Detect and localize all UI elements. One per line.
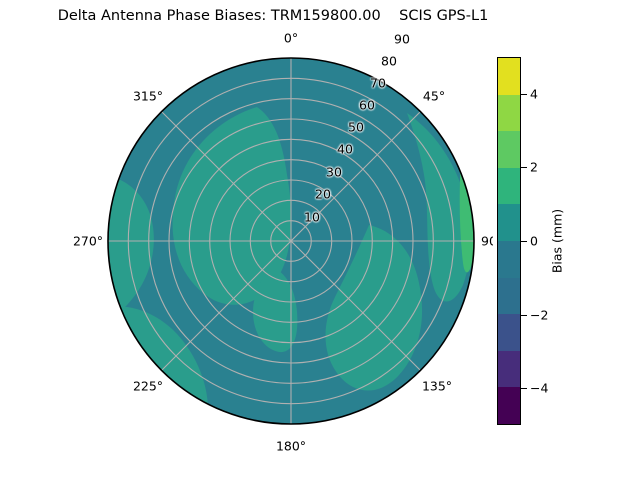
polar-axes[interactable]: 10 20 30 40 50 60 70 80 90 [107,57,475,425]
theta-tick-label-45: 45° [423,89,445,104]
colorbar-band-9 [498,387,520,424]
r-tick-label-50: 50 [348,120,364,135]
r-tick-label-20: 20 [315,187,331,202]
polar-plot-svg [107,57,475,425]
theta-tick-label-315: 315° [133,89,163,104]
colorbar-band-1 [498,95,520,132]
polar-grid-spokes [108,58,474,424]
colorbar-band-8 [498,351,520,388]
theta-tick-label-180: 180° [276,439,306,454]
colorbar-band-3 [498,168,520,205]
colorbar-tick-m2 [521,315,527,316]
colorbar-ticklabel-4: 4 [530,87,538,102]
colorbar-tick-2 [521,167,527,168]
theta-tick-label-225: 225° [133,379,163,394]
r-tick-label-30: 30 [326,165,342,180]
colorbar-ticklabel-0: 0 [530,234,538,249]
page-title: Delta Antenna Phase Biases: TRM159800.00… [0,8,546,24]
r-tick-label-80: 80 [381,54,397,69]
figure-canvas: Delta Antenna Phase Biases: TRM159800.00… [0,0,640,480]
r-tick-label-70: 70 [370,76,386,91]
colorbar-band-4 [498,204,520,241]
colorbar-ticklabel-2: 2 [530,160,538,175]
theta-tick-label-270: 270° [73,234,103,249]
colorbar-axis-label: Bias (mm) [550,209,565,273]
colorbar-tick-0 [521,241,527,242]
colorbar-ticklabel-m4: −4 [530,381,548,396]
r-tick-label-10: 10 [304,210,320,225]
colorbar-band-7 [498,314,520,351]
r-tick-label-90: 90 [394,32,410,47]
theta-tick-label-135: 135° [422,379,452,394]
colorbar-band-0 [498,58,520,95]
colorbar-ticklabel-m2: −2 [530,308,548,323]
r-tick-label-60: 60 [359,98,375,113]
r-tick-label-40: 40 [337,142,353,157]
colorbar-tick-m4 [521,388,527,389]
colorbar-tick-4 [521,94,527,95]
theta-tick-label-0: 0° [284,31,298,46]
colorbar-band-5 [498,241,520,278]
colorbar-band-6 [498,278,520,315]
colorbar-band-2 [498,131,520,168]
colorbar[interactable] [497,57,521,425]
